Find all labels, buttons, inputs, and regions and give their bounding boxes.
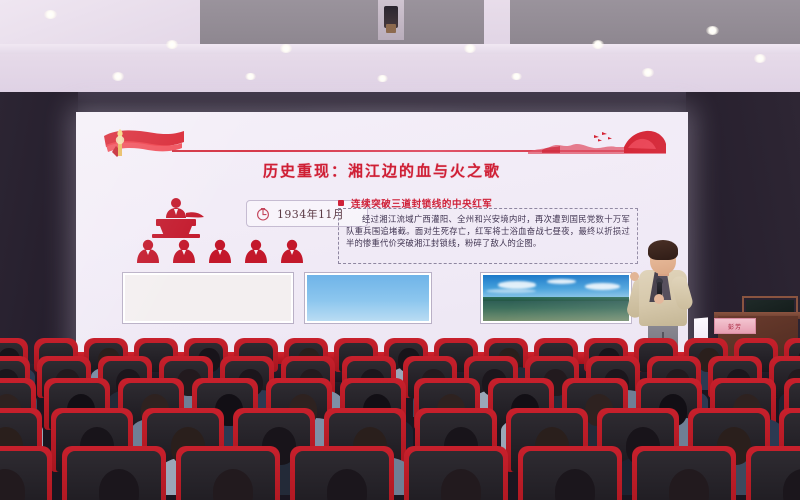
ceiling-recess-right — [510, 0, 800, 44]
projector-lens-icon — [386, 24, 396, 33]
presenter-hand-holding-mic — [654, 294, 664, 304]
downlight-2 — [166, 40, 178, 49]
wall-top-trim — [0, 92, 800, 102]
red-flag-torch-icon — [96, 126, 188, 160]
date-badge-text: 1934年11月 — [277, 206, 344, 222]
slide-content: 历史重现：湘江边的血与火之歌 — [76, 112, 688, 360]
downlight-4 — [464, 44, 476, 53]
red-mountain-birds-icon — [528, 126, 666, 156]
body-paragraph: 经过湘江流域广西灌阳、全州和兴安境内时，再次遭到国民党数十万军队重兵围追堵截。面… — [346, 214, 630, 249]
downlight-11 — [642, 68, 654, 77]
presenter-pointing-hand — [630, 272, 639, 281]
downlight-7 — [112, 72, 124, 81]
photo-branches-sky — [304, 272, 432, 324]
presenter-hair — [648, 240, 678, 260]
ceiling-recess-left — [196, 0, 484, 44]
downlight-1 — [44, 10, 57, 19]
downlight-10 — [511, 73, 522, 81]
square-bullet-icon — [338, 200, 344, 206]
downlight-6 — [706, 26, 719, 35]
downlight-3 — [280, 44, 292, 53]
lecture-hall-photo: 历史重现：湘江边的血与火之歌 — [0, 0, 800, 500]
projection-screen: 历史重现：湘江边的血与火之歌 — [76, 112, 688, 360]
downlight-9 — [377, 75, 388, 83]
downlight-5 — [592, 40, 604, 49]
slide-title: 历史重现：湘江边的血与火之歌 — [76, 160, 688, 181]
photo-river-landscape — [480, 272, 632, 324]
photo-battle-map — [122, 272, 294, 324]
downlight-8 — [245, 73, 256, 81]
downlight-12 — [754, 54, 766, 63]
seated-audience — [0, 330, 800, 500]
ceiling-edge-trim — [0, 44, 800, 54]
clock-icon — [256, 207, 270, 221]
body-text-box: 经过湘江流域广西灌阳、全州和兴安境内时，再次遭到国民党数十万军队重兵围追堵截。面… — [338, 208, 638, 264]
ceiling — [0, 0, 800, 96]
